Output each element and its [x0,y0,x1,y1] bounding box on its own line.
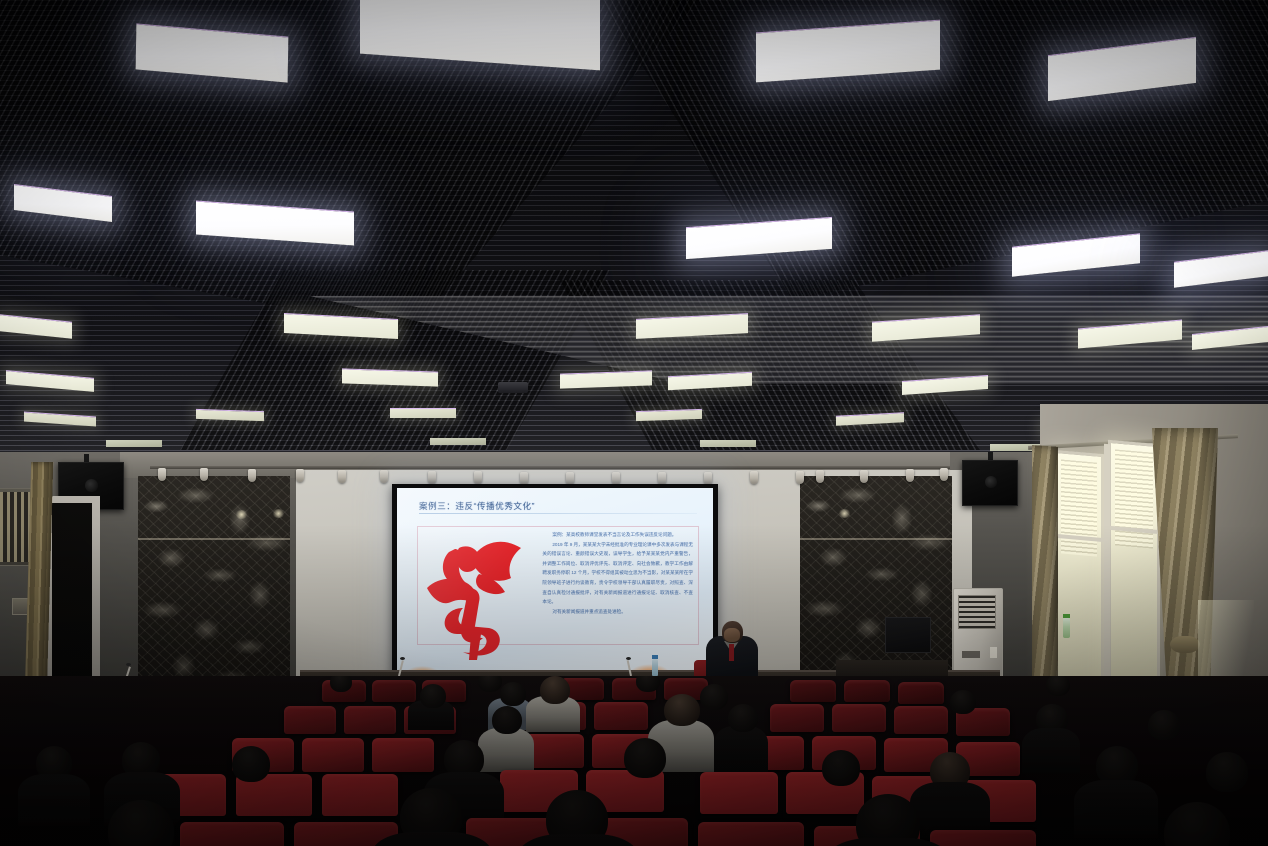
ceiling-light-panel [106,440,162,447]
speaker-cone-icon [85,479,98,492]
spotlight-track-rail [150,466,950,469]
seat[interactable] [302,738,364,772]
audience-head [1206,752,1248,792]
audience-head [636,676,660,692]
water-bottle [652,659,658,676]
track-spotlight-icon [296,469,304,482]
slatted-ceiling [0,0,1268,470]
audience-head [1046,676,1070,696]
audience-shoulders [1074,780,1158,838]
slide-title-rule [419,513,697,514]
ac-vent-grille [958,595,996,629]
window-pane-right [1108,440,1160,701]
ceiling-light-panel [560,370,652,388]
grate-bars [0,492,30,562]
audience-shoulders [714,726,768,772]
presenter-face [724,628,740,642]
right-marble-wall [800,476,952,690]
audience-head [624,738,666,778]
track-spotlight-icon [816,470,824,483]
seat[interactable] [898,682,944,704]
window-mullion [1104,444,1110,703]
presentation-slide: 案例三：违反“传播优秀文化” [397,488,713,671]
water-bottle [1063,618,1070,638]
track-spotlight-icon [200,468,208,481]
ceiling-light-panel [700,440,756,447]
seat[interactable] [770,704,824,732]
speaker-cone-icon [985,476,997,488]
spotlight-glow [838,509,851,518]
stage-monitor [885,617,931,653]
audience-seating-area [0,676,1268,846]
left-marble-wall [138,476,290,692]
audience-head [478,676,502,692]
audience-head [664,694,700,726]
track-spotlight-icon [474,471,482,484]
seat[interactable] [594,702,648,730]
audience-head [540,676,570,704]
track-spotlight-icon [158,468,166,481]
audience-head [420,684,446,708]
ceiling-light-panel [390,408,456,418]
track-spotlight-icon [940,468,948,481]
seat[interactable] [832,704,886,732]
audience-shoulders [478,728,534,772]
track-spotlight-icon [380,470,388,483]
right-wall-speaker [962,460,1018,506]
slide-body-line: 对有关新闻报道并重点追查处进检。 [542,607,693,617]
seat[interactable] [844,680,890,702]
seat[interactable] [894,706,948,734]
audience-head [492,706,522,734]
audience-shoulders [18,774,90,826]
microphone-head-icon [626,657,631,660]
seat[interactable] [372,680,416,702]
audience-head [700,684,728,710]
seat[interactable] [284,706,336,734]
seat[interactable] [930,830,1036,846]
slide-body-line: 2019 年 9 月，某某某大学未经批准的专业理论课中多次发表与课程无关的错误言… [542,540,693,607]
spotlight-glow [235,510,248,519]
seat[interactable] [698,822,804,846]
seat[interactable] [322,774,398,816]
bottle-cap [1063,614,1070,618]
window-blind [1115,449,1153,548]
window-blind [1061,459,1097,556]
seat[interactable] [344,706,396,734]
side-exit-doorway[interactable] [52,503,92,692]
marble-seam [800,538,952,540]
audience-head [330,676,352,692]
window-pane-left [1054,450,1104,706]
orange-firework-flames [397,651,713,671]
slide-body-text: 案例：某高校教师课堂发表不当言论及工作失误违反论问题。 2019 年 9 月，某… [542,530,693,616]
red-torch-flag-emblem [419,534,537,662]
curtain-tieback[interactable] [1170,636,1200,653]
track-spotlight-icon [338,470,346,483]
track-spotlight-icon [796,471,804,484]
seat[interactable] [180,822,284,846]
presenter-tie [729,644,734,661]
seat[interactable] [700,772,778,814]
seat[interactable] [790,680,836,702]
right-curtain-inner [1032,445,1058,703]
track-spotlight-icon [428,471,436,484]
ceiling-projector [498,382,528,393]
lecture-hall-photo: 案例三：违反“传播优秀文化” [0,0,1268,846]
audience-head [728,704,758,732]
audience-shoulders [1022,728,1080,774]
audience-head [500,682,526,706]
audience-head [822,750,860,786]
microphone-head-icon [126,663,131,666]
slide-title: 案例三：违反“传播优秀文化” [419,500,535,512]
audience-head-foreground [1164,802,1230,846]
seat[interactable] [372,738,434,772]
bottle-cap [652,655,658,659]
audience-head [1148,710,1180,740]
track-spotlight-icon [248,469,256,482]
marble-seam [138,538,290,540]
track-spotlight-icon [750,471,758,484]
ac-control-label [962,651,980,658]
track-spotlight-icon [860,470,868,483]
projection-screen[interactable]: 案例三：违反“传播优秀文化” [392,484,718,676]
track-spotlight-icon [906,469,914,482]
microphone-head-icon [400,657,405,660]
ac-badge [990,647,997,658]
slide-body-line: 案例：某高校教师课堂发表不当言论及工作失误违反论问题。 [542,530,693,540]
spotlight-glow [272,509,285,518]
ceiling-light-panel [430,438,486,445]
audience-head [950,690,976,714]
audience-head [232,746,270,782]
